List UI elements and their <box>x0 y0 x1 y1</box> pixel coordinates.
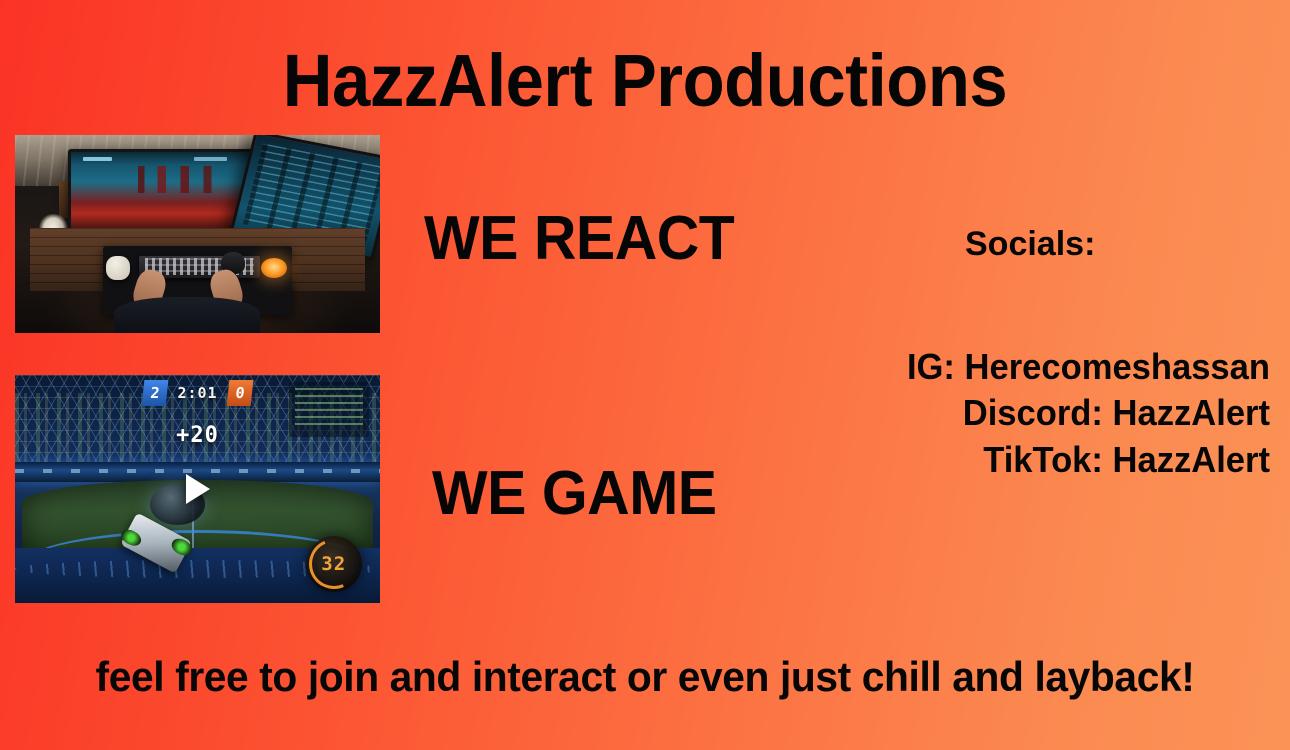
rl-boost-meter: 32 <box>306 536 362 592</box>
rocket-league-clip[interactable]: 2 2:01 0 +20 32 <box>15 375 380 603</box>
page-title: HazzAlert Productions <box>45 38 1245 123</box>
candle <box>261 258 287 278</box>
rl-scoreboard: 2 2:01 0 <box>15 380 380 406</box>
socials-label: Socials: <box>965 225 1095 264</box>
monitor-game-content <box>133 166 215 193</box>
rl-boost-value: 32 <box>321 553 346 575</box>
rl-score-blue: 2 <box>142 380 169 406</box>
rl-points-popup: +20 <box>15 423 380 448</box>
promo-poster: HazzAlert Productions <box>0 0 1290 750</box>
seated-person <box>114 297 260 333</box>
social-item-ig[interactable]: IG: Herecomeshassan <box>636 344 1270 390</box>
footer-tagline: feel free to join and interact or even j… <box>19 653 1270 701</box>
rl-timer: 2:01 <box>177 384 217 402</box>
social-item-tiktok[interactable]: TikTok: HazzAlert <box>636 437 1270 483</box>
rl-score-orange: 0 <box>226 380 253 406</box>
desk-setup-photo <box>15 135 380 333</box>
socials-list: IG: Herecomeshassan Discord: HazzAlert T… <box>610 344 1270 483</box>
social-item-discord[interactable]: Discord: HazzAlert <box>636 390 1270 436</box>
headline-we-react: WE REACT <box>424 203 734 274</box>
mug <box>106 256 130 280</box>
play-icon[interactable] <box>186 474 210 504</box>
